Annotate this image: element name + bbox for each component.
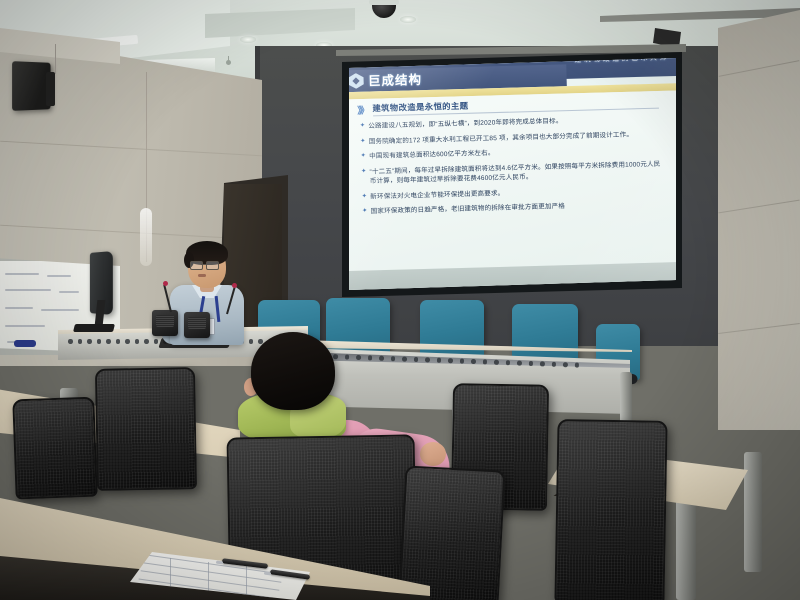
cord-tie [140,208,152,266]
projection-screen: 建筑物改造的艺术大师 巨成结构 》》 建筑物改造是永恒的主题 ✦ 公路建设八五规… [349,58,676,290]
glasses-icon [190,261,203,270]
slide-bullet: ✦ 中国现有建筑总面积达600亿平方米左右。 [361,144,665,162]
chevron-right-icon: 》》 [357,103,367,117]
hexagon-diamond-logo-icon [349,73,364,89]
slide-bullet: ✦ “十二五”期间，每年过早拆除建筑面积将达到4.6亿平方米。如果按照每平方米拆… [361,159,665,186]
slide-bullet-text: 国务院确定的172 项重大水利工程已开工85 项，其余项目也大部分完成了前期设计… [369,130,633,147]
brand-logo-text: 巨成结构 [368,70,423,89]
microphone-unit-icon[interactable] [152,310,178,336]
whiteboard-marker-icon [14,340,36,347]
attendee-hair [251,332,335,410]
slide-bullet-text: “十二五”期间，每年过早拆除建筑面积将达到4.6亿平方米。如果按照每平方米拆除费… [369,159,665,186]
teal-chair-back[interactable] [512,304,578,364]
downlight-icon [400,16,416,23]
slide-bullet: ✦ 国务院确定的172 项重大水利工程已开工85 项，其余项目也大部分完成了前期… [360,129,664,147]
wall-speaker-icon [12,61,50,111]
monitor-base [73,324,115,332]
sprinkler-icon [226,60,231,65]
mesh-chair[interactable] [95,367,197,491]
microphone-head-icon [163,281,168,286]
downlight-icon [240,36,256,43]
brand-logo: 巨成结构 [349,70,422,90]
bullet-marker-icon: ✦ [362,192,368,202]
bullet-marker-icon: ✦ [361,152,367,162]
speaker-wire [55,44,56,74]
bullet-marker-icon: ✦ [361,167,367,186]
mesh-chair[interactable] [554,419,667,600]
right-wall [718,10,800,430]
mesh-chair-armrest-block[interactable] [399,465,506,600]
slide-bullet-text: 中国现有建筑总面积达600亿平方米左右。 [369,149,495,162]
microphone-head-icon [232,283,237,288]
glasses-icon [206,261,219,270]
presenter-mouth [198,274,206,277]
slide-bullet-text: 新环保法对火电企业节能环保提出更高要求。 [370,188,504,201]
bullet-marker-icon: ✦ [360,137,366,147]
slide-bullet: ✦ 新环保法对火电企业节能环保提出更高要求。 [362,184,666,202]
glasses-bridge [201,264,206,265]
presentation-slide: 建筑物改造的艺术大师 巨成结构 》》 建筑物改造是永恒的主题 ✦ 公路建设八五规… [349,58,676,290]
slide-bullet-list: ✦ 公路建设八五规划，即“五纵七横”，到2020年即将完成总体目标。 ✦ 国务院… [360,114,666,223]
bullet-marker-icon: ✦ [360,122,366,132]
slide-bullet: ✦ 国家环保政策的日趋严格，老旧建筑物的拆除在审批方面更加严格 [362,199,666,217]
mesh-chair[interactable] [12,397,97,500]
bullet-marker-icon: ✦ [362,207,368,217]
attendee-hand [420,442,446,466]
slide-bullet-text: 国家环保政策的日趋严格，老旧建筑物的拆除在审批方面更加严格 [371,202,566,217]
meeting-room-photo: 建筑物改造的艺术大师 巨成结构 》》 建筑物改造是永恒的主题 ✦ 公路建设八五规… [0,0,800,600]
speaker-bracket [46,72,55,106]
microphone-unit-icon[interactable] [184,312,210,338]
